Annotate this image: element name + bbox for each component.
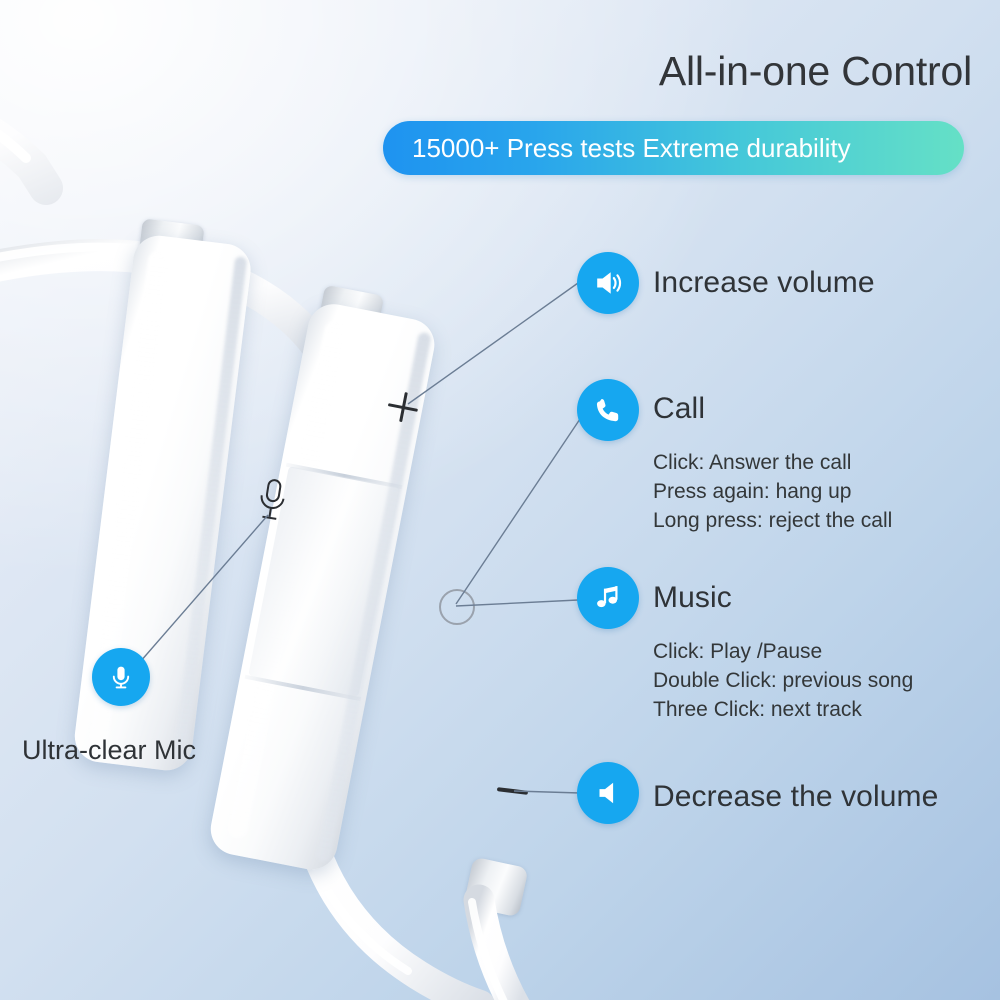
microphone-icon[interactable] <box>92 648 150 706</box>
callout-line: Click: Play /Pause <box>653 637 913 666</box>
volume-down-icon[interactable] <box>577 762 639 824</box>
phone-icon[interactable] <box>577 379 639 441</box>
volume-down-glyph <box>591 776 625 810</box>
callout-line: Click: Answer the call <box>653 448 892 477</box>
durability-badge: 15000+ Press tests Extreme durability <box>383 121 964 175</box>
callout-title-music: Music <box>653 581 732 615</box>
callout-line: Double Click: previous song <box>653 666 913 695</box>
callout-line: Long press: reject the call <box>653 506 892 535</box>
music-note-glyph <box>591 581 625 615</box>
callout-title-decrease-volume: Decrease the volume <box>653 780 938 814</box>
mic-callout-label: Ultra-clear Mic <box>22 735 196 766</box>
callout-title-call: Call <box>653 392 705 426</box>
volume-up-icon[interactable] <box>577 252 639 314</box>
callout-line: Three Click: next track <box>653 695 913 724</box>
durability-badge-label: 15000+ Press tests Extreme durability <box>383 133 851 164</box>
callout-line: Press again: hang up <box>653 477 892 506</box>
callout-lines-music: Click: Play /Pause Double Click: previou… <box>653 637 913 724</box>
page-title: All-in-one Control <box>659 48 972 95</box>
volume-up-glyph <box>590 265 626 301</box>
callout-lines-call: Click: Answer the call Press again: hang… <box>653 448 892 535</box>
product-infographic: All-in-one Control 15000+ Press tests Ex… <box>0 0 1000 1000</box>
music-note-icon[interactable] <box>577 567 639 629</box>
phone-glyph <box>591 393 625 427</box>
callout-title-increase-volume: Increase volume <box>653 266 875 300</box>
microphone-glyph <box>105 661 137 693</box>
